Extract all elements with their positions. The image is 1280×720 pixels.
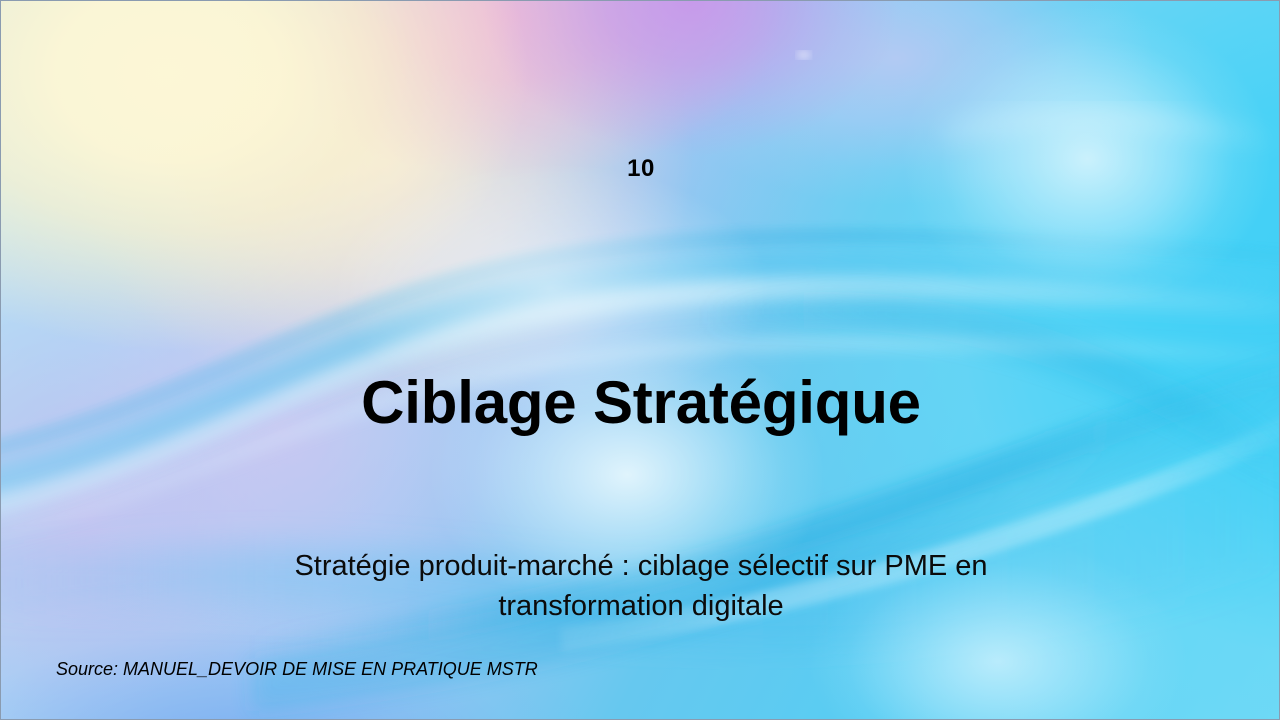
slide-subtitle: Stratégie produit-marché : ciblage sélec… xyxy=(231,546,1051,626)
slide-number: 10 xyxy=(1,155,1280,183)
background-light-speck xyxy=(797,51,811,59)
slide-source-attribution: Source: MANUEL_DEVOIR DE MISE EN PRATIQU… xyxy=(56,659,538,680)
slide-title: Ciblage Stratégique xyxy=(1,369,1280,436)
presentation-slide: 10 Ciblage Stratégique Stratégie produit… xyxy=(0,0,1280,720)
